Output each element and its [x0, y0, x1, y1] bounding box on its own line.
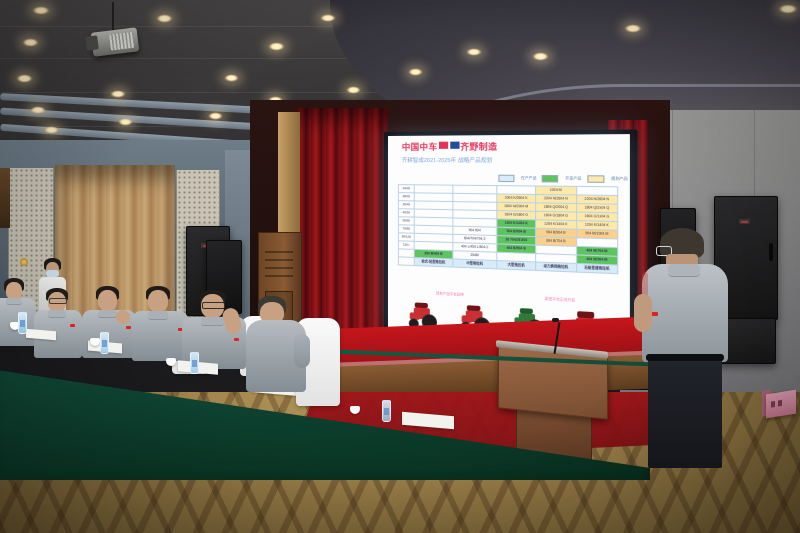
ceiling-downlight — [30, 106, 46, 114]
table-row-label — [398, 257, 414, 266]
led-presentation-screen[interactable]: 中国中车齐野制造 齐耕智成2021-2025年 战略产品规划 在产产品 开发产品… — [388, 134, 630, 347]
ceiling-downlight — [118, 118, 133, 126]
arm — [634, 294, 652, 332]
legend-label-planned: 规划产品 — [611, 176, 628, 182]
ceiling-downlight — [16, 74, 33, 83]
ceiling-seam — [0, 92, 380, 93]
ceiling-downlight — [208, 112, 223, 120]
table-column-footer: 大型拖拉机 — [497, 261, 536, 271]
table-column-footer: 中型拖拉机 — [453, 259, 497, 269]
table-row-label: 28/30 — [398, 193, 414, 201]
table-column-footer: 无级变速拖拉机 — [576, 263, 618, 273]
ceiling-downlight — [44, 126, 59, 134]
water-bottle — [190, 352, 199, 374]
slide-logo-left: 中国中车 — [402, 142, 438, 152]
slide-title: 齐耕智成2021-2025年 战略产品规划 — [402, 156, 493, 164]
projector-mount-rod — [112, 2, 114, 32]
ceiling-downlight — [320, 14, 336, 22]
microphone-icon — [552, 318, 559, 322]
ceiling-downlight — [346, 86, 361, 94]
hand — [116, 310, 130, 324]
table-column-footer: 动力换挡拖拉机 — [536, 262, 576, 272]
ceiling-downlight — [32, 6, 50, 15]
wall-wood-trim — [0, 168, 10, 228]
ceiling-seam — [0, 26, 340, 27]
projector-lens-icon — [85, 35, 99, 50]
ceiling-seam — [0, 58, 360, 59]
ceiling-downlight — [22, 38, 39, 47]
name-card — [766, 390, 796, 419]
slide-legend: 在产产品 开发产品 规划产品 — [498, 175, 627, 183]
ceiling-downlight — [268, 42, 285, 51]
glasses-icon — [202, 302, 225, 309]
legend-label-in-production: 在产产品 — [521, 176, 537, 181]
ceiling-downlight — [224, 74, 239, 82]
legend-label-development: 开发产品 — [565, 176, 581, 181]
table-column-footer: 轮式-轻型拖拉机 — [414, 257, 453, 267]
ceiling-downlight — [156, 14, 173, 23]
ceiling-downlight — [408, 68, 423, 76]
ceiling-downlight — [778, 4, 798, 14]
product-roadmap-table: 24/261004 M28/302004 K/2604 K2204 N/2604… — [398, 184, 618, 274]
arm — [294, 334, 310, 368]
conference-room-photo: 中国中车齐野制造 齐耕智成2021-2025年 战略产品规划 在产产品 开发产品… — [0, 0, 800, 533]
legend-swatch-planned — [587, 175, 604, 183]
water-bottle — [18, 312, 27, 334]
legend-swatch-development — [542, 175, 559, 183]
ceiling-downlight — [624, 24, 642, 33]
trousers — [648, 356, 722, 468]
slide-logo: 中国中车齐野制造 — [402, 140, 498, 153]
glasses-icon — [49, 298, 67, 304]
water-bottle — [100, 332, 109, 354]
table-row-label: 24/26 — [398, 185, 414, 193]
legend-swatch-in-production — [498, 175, 514, 182]
ceiling-downlight — [532, 52, 549, 61]
slide-logo-right: 齐野制造 — [460, 141, 497, 151]
collar — [668, 264, 700, 277]
ceiling-downlight — [110, 90, 126, 98]
belt — [646, 354, 724, 361]
ceiling-downlight — [466, 48, 482, 56]
face-mask-icon — [46, 270, 59, 277]
wall-light — [20, 258, 28, 266]
water-bottle — [382, 400, 391, 422]
